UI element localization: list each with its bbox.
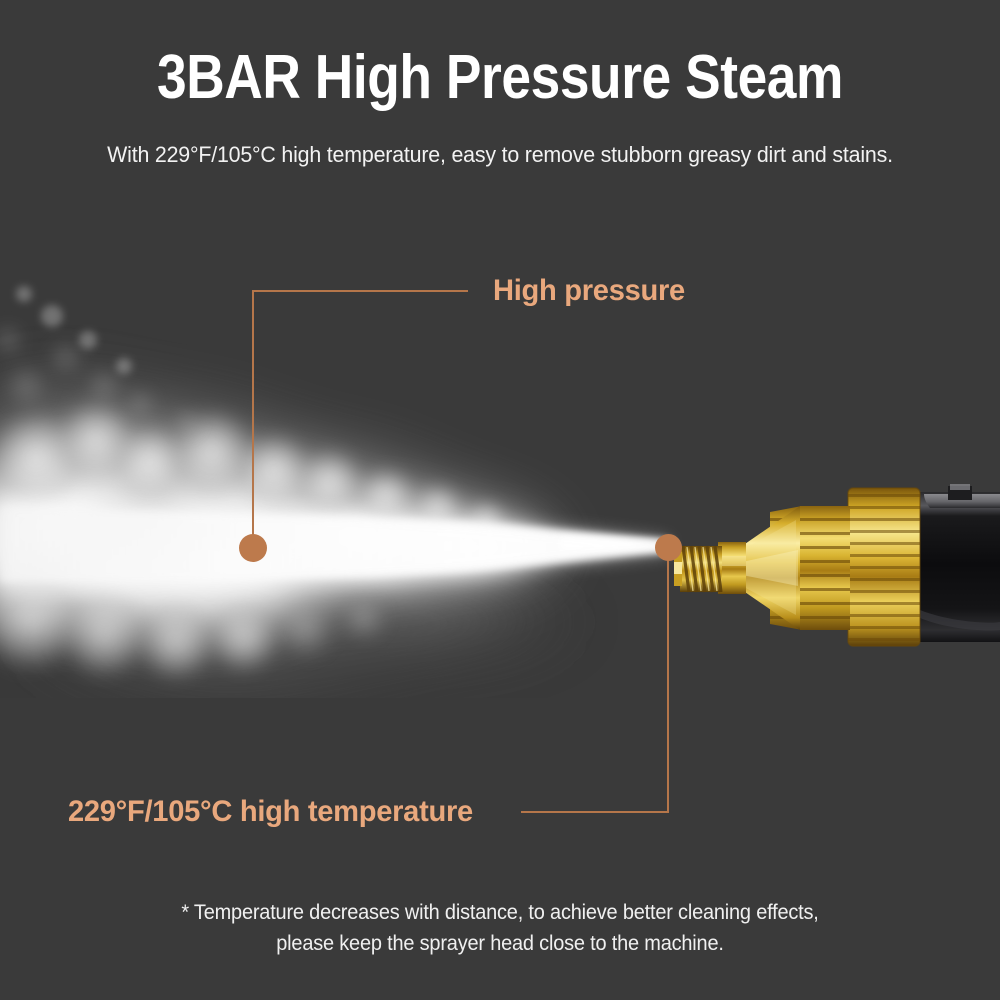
callout-dot-nozzle-tip [655,534,682,561]
brass-sprayer-nozzle [674,484,1000,646]
footnote-line-1: * Temperature decreases with distance, t… [25,897,975,928]
steam-plume [0,286,690,720]
callout-dot-steam-plume [239,534,267,562]
nozzle-shank [718,542,746,594]
callout-leader-high-pressure-vertical [252,290,254,540]
callout-leader-temperature-vertical [667,556,669,813]
callout-leader-high-pressure-horizontal [253,290,468,292]
callout-label-temperature: 229°F/105°C high temperature [68,793,473,831]
footnote-line-2: please keep the sprayer head close to th… [25,928,975,959]
page-title: 3BAR High Pressure Steam [70,44,930,112]
product-feature-banner: 3BAR High Pressure Steam With 229°F/105°… [0,0,1000,1000]
page-subtitle: With 229°F/105°C high temperature, easy … [25,140,975,170]
nozzle-collar-nut [848,488,920,646]
nozzle-threaded-tip [674,546,722,592]
callout-leader-temperature-horizontal [521,811,669,813]
callout-label-high-pressure: High pressure [493,272,685,310]
footnote: * Temperature decreases with distance, t… [25,897,975,959]
